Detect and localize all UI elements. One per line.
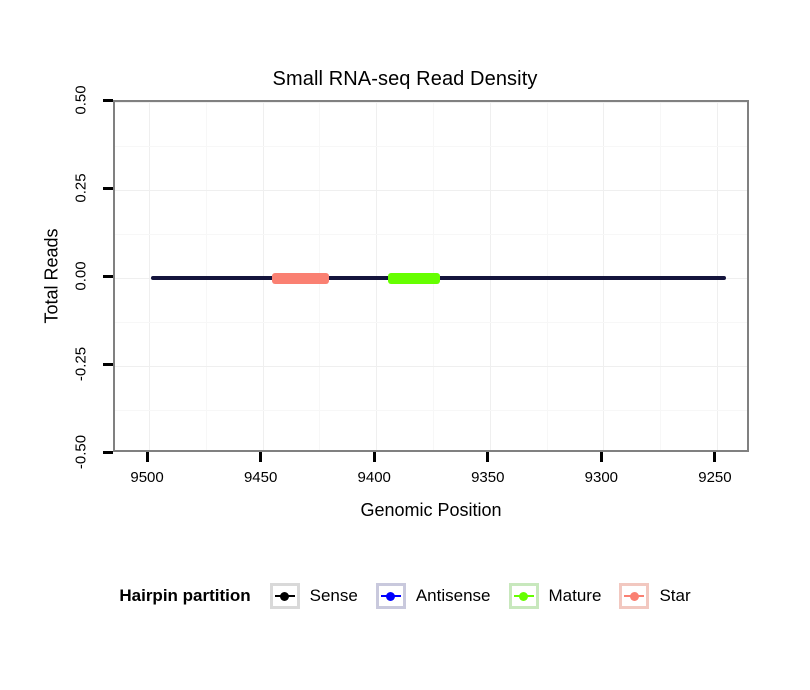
x-axis-tick-label: 9400 bbox=[358, 469, 391, 486]
legend-key-icon bbox=[376, 583, 406, 609]
legend-label: Star bbox=[659, 586, 690, 606]
legend-key-icon bbox=[619, 583, 649, 609]
y-axis-tick-label: -0.50 bbox=[73, 435, 90, 469]
y-axis-tick-label: -0.25 bbox=[73, 347, 90, 381]
y-axis-tick-label: 0.25 bbox=[73, 173, 90, 202]
legend-key-dot bbox=[630, 592, 639, 601]
chart-figure: Small RNA-seq Read Density Genomic Posit… bbox=[0, 0, 810, 690]
legend-label: Sense bbox=[310, 586, 358, 606]
x-axis-tick-label: 9250 bbox=[698, 469, 731, 486]
plot-panel bbox=[113, 100, 749, 452]
legend-label: Mature bbox=[549, 586, 602, 606]
legend-entry-star[interactable]: Star bbox=[619, 583, 690, 609]
legend-key-dot bbox=[519, 592, 528, 601]
x-axis-tick-label: 9350 bbox=[471, 469, 504, 486]
legend-entry-antisense[interactable]: Antisense bbox=[376, 583, 509, 609]
x-axis-tick bbox=[259, 452, 262, 462]
y-axis-tick bbox=[103, 363, 113, 366]
series-segment-mature bbox=[388, 273, 440, 284]
x-axis-tick bbox=[146, 452, 149, 462]
x-axis-label: Genomic Position bbox=[113, 500, 749, 521]
x-axis-tick bbox=[600, 452, 603, 462]
x-axis-tick-label: 9500 bbox=[130, 469, 163, 486]
y-axis-label: Total Reads bbox=[42, 228, 63, 323]
legend-entry-sense[interactable]: Sense bbox=[270, 583, 376, 609]
x-axis-tick-label: 9300 bbox=[585, 469, 618, 486]
legend-entry-mature[interactable]: Mature bbox=[509, 583, 620, 609]
data-series-layer bbox=[115, 102, 747, 450]
series-segment-star bbox=[272, 273, 329, 284]
x-axis-tick-label: 9450 bbox=[244, 469, 277, 486]
legend-key-dot bbox=[386, 592, 395, 601]
x-axis-tick bbox=[713, 452, 716, 462]
legend-key-icon bbox=[509, 583, 539, 609]
legend-key-icon bbox=[270, 583, 300, 609]
page-title: Small RNA-seq Read Density bbox=[0, 68, 810, 91]
y-axis-tick-label: 0.50 bbox=[73, 85, 90, 114]
legend-label: Antisense bbox=[416, 586, 491, 606]
x-axis-tick bbox=[486, 452, 489, 462]
x-axis-tick bbox=[373, 452, 376, 462]
y-axis-tick bbox=[103, 451, 113, 454]
legend-key-dot bbox=[280, 592, 289, 601]
y-axis-tick bbox=[103, 99, 113, 102]
y-axis-tick bbox=[103, 275, 113, 278]
legend: Hairpin partition SenseAntisenseMatureSt… bbox=[0, 583, 810, 609]
y-axis-tick-label: 0.00 bbox=[73, 261, 90, 290]
legend-title: Hairpin partition bbox=[119, 586, 250, 606]
y-axis-tick bbox=[103, 187, 113, 190]
